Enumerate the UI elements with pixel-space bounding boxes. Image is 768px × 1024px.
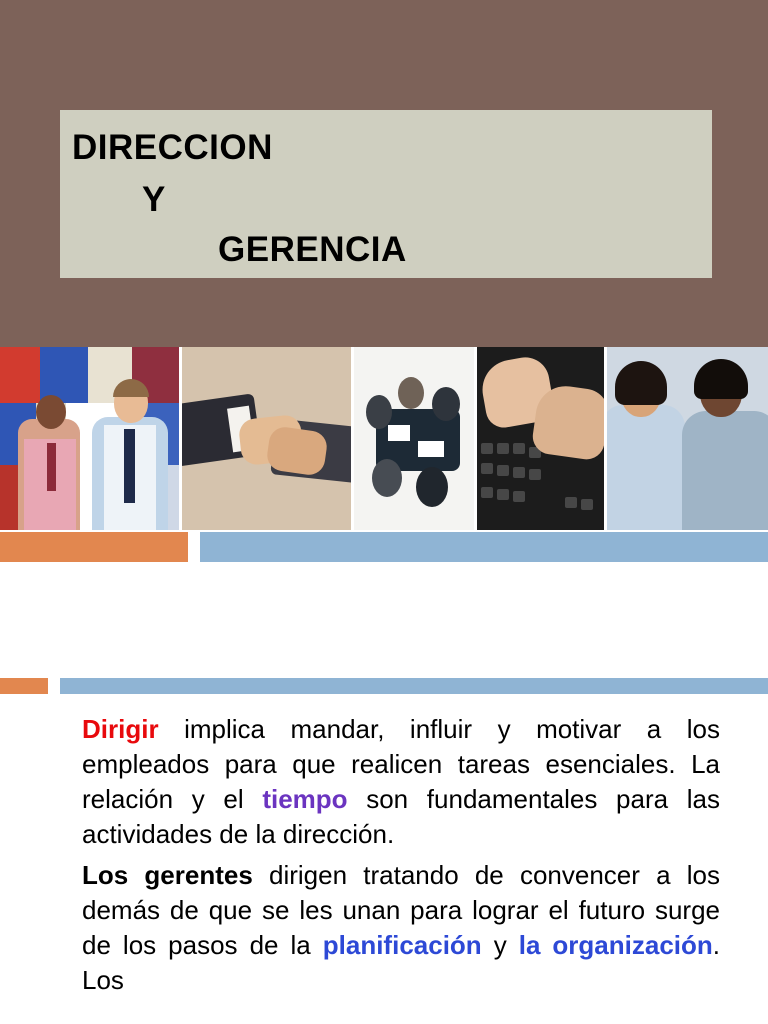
accent-bar-blue-top (200, 532, 768, 562)
title-box: DIRECCION Y GERENCIA (60, 110, 712, 278)
accent-bar-orange-top (0, 532, 188, 562)
title-banner: DIRECCION Y GERENCIA (0, 0, 768, 347)
woman-left-body (607, 405, 685, 530)
title-line-1: DIRECCION (72, 130, 273, 167)
paragraph-dirigir: Dirigir implica mandar, influir y motiva… (82, 712, 720, 852)
table-paper-2 (418, 441, 444, 457)
title-line-3: GERENCIA (218, 232, 407, 269)
paragraph2-text2: y (482, 930, 519, 960)
body-text-block: Dirigir implica mandar, influir y motiva… (82, 712, 720, 998)
accent-bar-orange-bottom (0, 678, 48, 694)
meeting-person-2 (398, 377, 424, 409)
woman-right-body (682, 411, 768, 530)
handshake-photo (182, 347, 354, 530)
photo-strip (0, 347, 768, 530)
hands-keyboard-photo (477, 347, 607, 530)
keyword-los-gerentes: Los gerentes (82, 860, 253, 890)
keyword-la-organizacion: la organización (519, 930, 713, 960)
hand-right (265, 425, 329, 477)
man-left-head (36, 395, 66, 429)
man-right-tie (124, 429, 135, 503)
keyword-tiempo: tiempo (262, 784, 347, 814)
two-women-talking-photo (607, 347, 768, 530)
title-line-2: Y (142, 182, 166, 219)
keyword-dirigir: Dirigir (82, 714, 159, 744)
accent-bar-blue-bottom (60, 678, 768, 694)
meeting-person-4 (372, 459, 402, 497)
team-meeting-photo (354, 347, 477, 530)
paragraph-gerentes: Los gerentes dirigen tratando de convenc… (82, 858, 720, 998)
man-left-tie (47, 443, 56, 491)
table-paper-1 (388, 425, 410, 441)
meeting-person-1 (366, 395, 392, 429)
woman-left-hair (615, 361, 667, 405)
keyword-planificacion: planificación (323, 930, 482, 960)
meeting-person-3 (432, 387, 460, 421)
two-businessmen-photo (0, 347, 182, 530)
meeting-person-5 (416, 467, 448, 507)
